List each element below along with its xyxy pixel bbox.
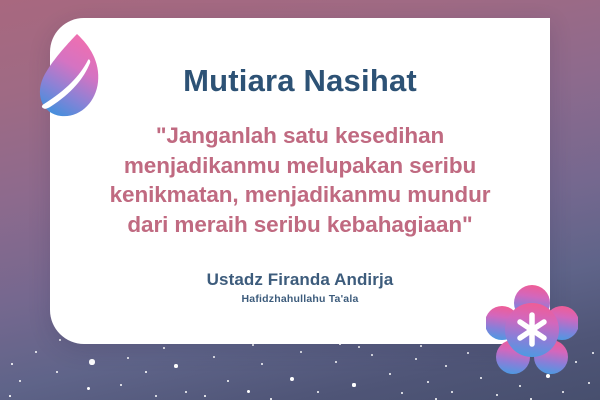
quote-text: "Janganlah satu kesedihan menjadikanmu m… (68, 121, 532, 240)
star-dot-icon (11, 363, 13, 365)
star-dot-icon (9, 395, 11, 397)
author-honorific: Hafidzhahullahu Ta'ala (50, 294, 550, 305)
star-dot-icon (252, 344, 254, 346)
star-dot-icon (415, 358, 417, 360)
star-dot-icon (163, 347, 165, 349)
star-dot-icon (56, 371, 58, 373)
star-dot-icon (120, 384, 122, 386)
star-dot-icon (227, 380, 229, 382)
star-dot-icon (445, 365, 447, 367)
page-title: Mutiara Nasihat (50, 65, 550, 96)
star-dot-icon (592, 352, 594, 354)
star-dot-icon (35, 351, 37, 353)
star-dot-icon (317, 391, 319, 393)
star-dot-icon (588, 382, 590, 384)
star-dot-icon (562, 391, 564, 393)
star-dot-icon (335, 361, 337, 363)
card-content: Mutiara Nasihat "Janganlah satu kesediha… (50, 18, 550, 344)
star-dot-icon (496, 394, 499, 397)
star-dot-icon (389, 373, 392, 376)
quote-line: menjadikanmu melupakan seribu (68, 151, 532, 181)
star-dot-icon (261, 363, 264, 366)
star-dot-icon (89, 359, 94, 364)
author-name: Ustadz Firanda Andirja (50, 271, 550, 288)
star-dot-icon (480, 377, 482, 379)
star-dot-icon (145, 371, 147, 373)
star-dot-icon (467, 352, 469, 354)
star-dot-icon (546, 374, 550, 378)
star-dot-icon (427, 381, 429, 383)
star-dot-icon (371, 354, 373, 356)
star-dot-icon (352, 383, 355, 386)
star-dot-icon (204, 395, 206, 397)
star-dot-icon (87, 387, 90, 390)
star-dot-icon (155, 395, 158, 398)
leaf-icon (30, 32, 110, 120)
star-dot-icon (174, 364, 178, 368)
quote-line: "Janganlah satu kesedihan (68, 121, 532, 151)
star-dot-icon (290, 377, 295, 382)
star-dot-icon (451, 391, 454, 394)
star-dot-icon (213, 356, 215, 358)
content-card: Mutiara Nasihat "Janganlah satu kesediha… (50, 18, 550, 344)
quote-poster: Mutiara Nasihat "Janganlah satu kesediha… (0, 0, 600, 400)
star-dot-icon (127, 357, 130, 360)
star-dot-icon (358, 346, 360, 348)
flower-icon (486, 282, 578, 374)
star-dot-icon (247, 390, 250, 393)
star-dot-icon (401, 392, 403, 394)
star-dot-icon (185, 391, 187, 393)
star-dot-icon (19, 380, 21, 382)
quote-line: dari meraih seribu kebahagiaan" (68, 210, 532, 240)
star-dot-icon (300, 351, 302, 353)
star-dot-icon (420, 345, 422, 347)
quote-line: kenikmatan, menjadikanmu mundur (68, 180, 532, 210)
star-dot-icon (519, 385, 521, 387)
